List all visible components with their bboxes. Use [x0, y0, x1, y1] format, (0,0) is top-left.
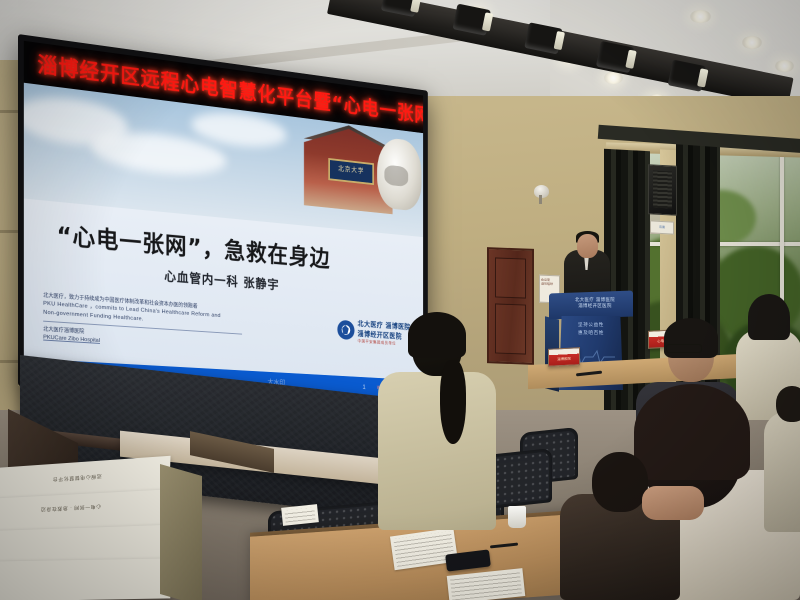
paper-document [281, 504, 319, 526]
downlight [690, 10, 711, 23]
slide-note-block: 北大医疗，致力于持续成为中国医疗体制改革和社会资本办医的领跑者 PKU Heal… [43, 292, 254, 355]
presentation-slide: 北京大学 “心电一张网”，急救在身边 心血管内一科 张静宇 北大医疗，致力于持续… [24, 83, 423, 381]
attendee-hair [748, 294, 790, 340]
security-camera-icon [534, 185, 549, 198]
name-tent: 淄博医院 [548, 347, 580, 367]
spotlight [381, 0, 420, 17]
slide-subtitle: 心血管内一科 张静宇 [164, 266, 279, 293]
stone-lion-statue [377, 136, 421, 211]
spotlight [452, 4, 491, 36]
attendee-hands [642, 486, 704, 520]
attendee-ponytail [440, 360, 466, 444]
attendee-head [776, 386, 800, 422]
attendee-head [592, 452, 648, 512]
slide-page-number: 1 [363, 384, 366, 391]
eyeglasses-icon [666, 344, 702, 353]
paper-cup [508, 506, 526, 528]
hospital-logo-icon [337, 320, 354, 340]
conference-room-photo: 音量 会议室请勿喧哗 淄博经开区远程心电智慧化平台暨“心电一张网”专题培训 北京… [0, 0, 800, 600]
spotlight [524, 22, 563, 54]
attendee-body [378, 372, 496, 530]
downlight [775, 60, 794, 72]
downlight [742, 36, 762, 49]
podium-slogan-line-2: 惠及咱百姓 [567, 330, 615, 338]
hospital-logo: 北大医疗 淄博医院 淄博经开区医院 中国平安集团成员单位 [337, 317, 410, 347]
podium-slogan-line-1: 坚持公益性 [567, 322, 615, 330]
podium-slogan: 坚持公益性 惠及咱百姓 [567, 322, 615, 338]
downlight [604, 72, 623, 84]
podium-logo: 北大医疗 淄博医院 淄博经开区医院 [567, 298, 623, 311]
presenter-head [577, 234, 598, 258]
table-leg [160, 464, 202, 600]
wall-speaker [648, 164, 677, 216]
attendee-hair [634, 384, 750, 480]
room-door[interactable] [487, 247, 534, 365]
led-display-screen[interactable]: 淄博经开区远程心电智慧化平台暨“心电一张网”专题培训 北京大学 “心电一张网”，… [18, 34, 428, 406]
spotlight [596, 41, 635, 73]
poster-sheet [0, 558, 170, 600]
podium-logo-line-2: 淄博经开区医院 [567, 304, 623, 310]
attendee-hair [408, 312, 466, 358]
wall-control-plate[interactable]: 音量 [650, 220, 674, 234]
attendee-body [764, 412, 800, 532]
